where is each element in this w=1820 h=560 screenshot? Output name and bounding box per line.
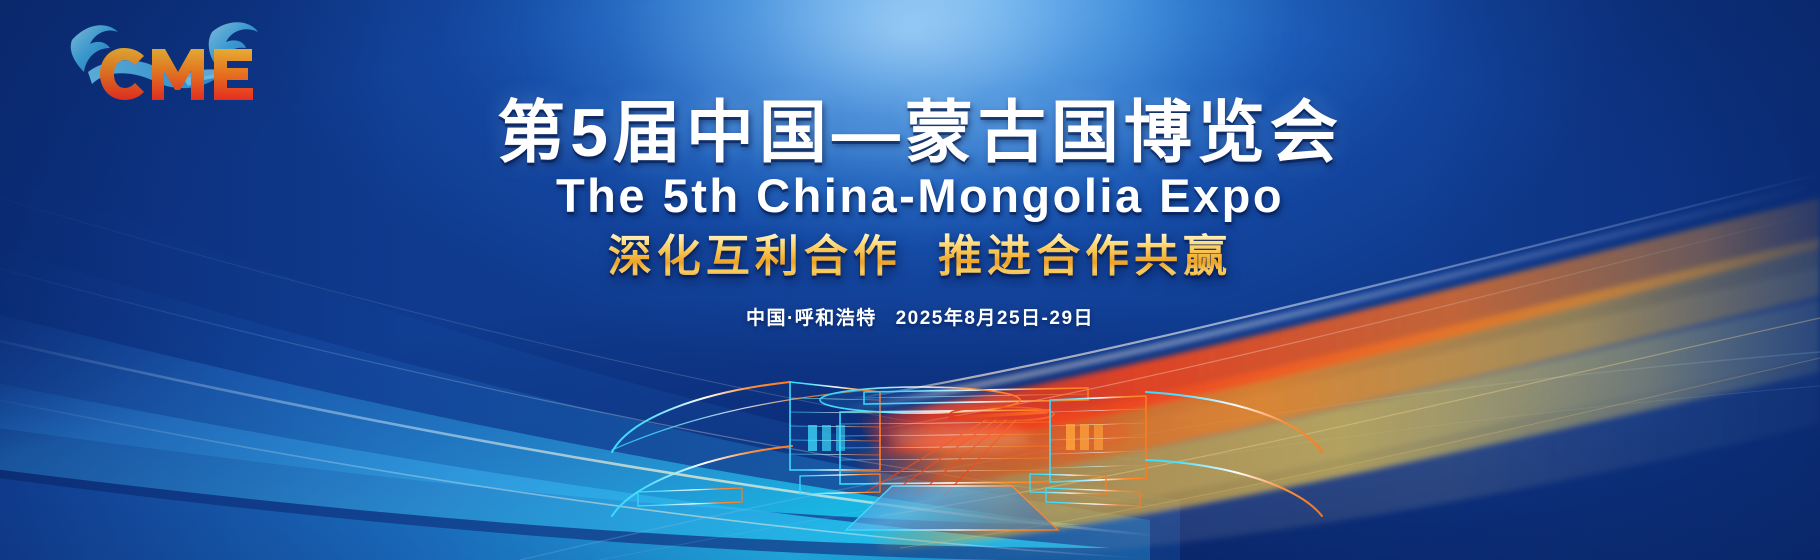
location-text: 中国·呼和浩特 (746, 308, 877, 329)
slogan-part-2: 推进合作共赢 (938, 232, 1232, 281)
page-title-english: The 5th China-Mongolia Expo (20, 171, 1820, 220)
page-title-chinese: 第5届中国—蒙古国博览会 (20, 98, 1820, 169)
slogan-gap (902, 232, 938, 281)
cme-logo[interactable] (62, 14, 270, 110)
date-spacer (877, 308, 896, 329)
banner-text-block: 第5届中国—蒙古国博览会 The 5th China-Mongolia Expo… (0, 98, 1820, 330)
slogan-part-1: 深化互利合作 (608, 232, 902, 281)
slogan: 深化互利合作 推进合作共赢 (20, 233, 1820, 281)
expo-banner: 第5届中国—蒙古国博览会 The 5th China-Mongolia Expo… (0, 0, 1820, 560)
logo-letters (100, 48, 253, 100)
cme-logo-graphic (62, 14, 270, 110)
date-range-text: 2025年8月25日-29日 (896, 308, 1094, 329)
date-location-line: 中国·呼和浩特 2025年8月25日-29日 (20, 303, 1820, 330)
